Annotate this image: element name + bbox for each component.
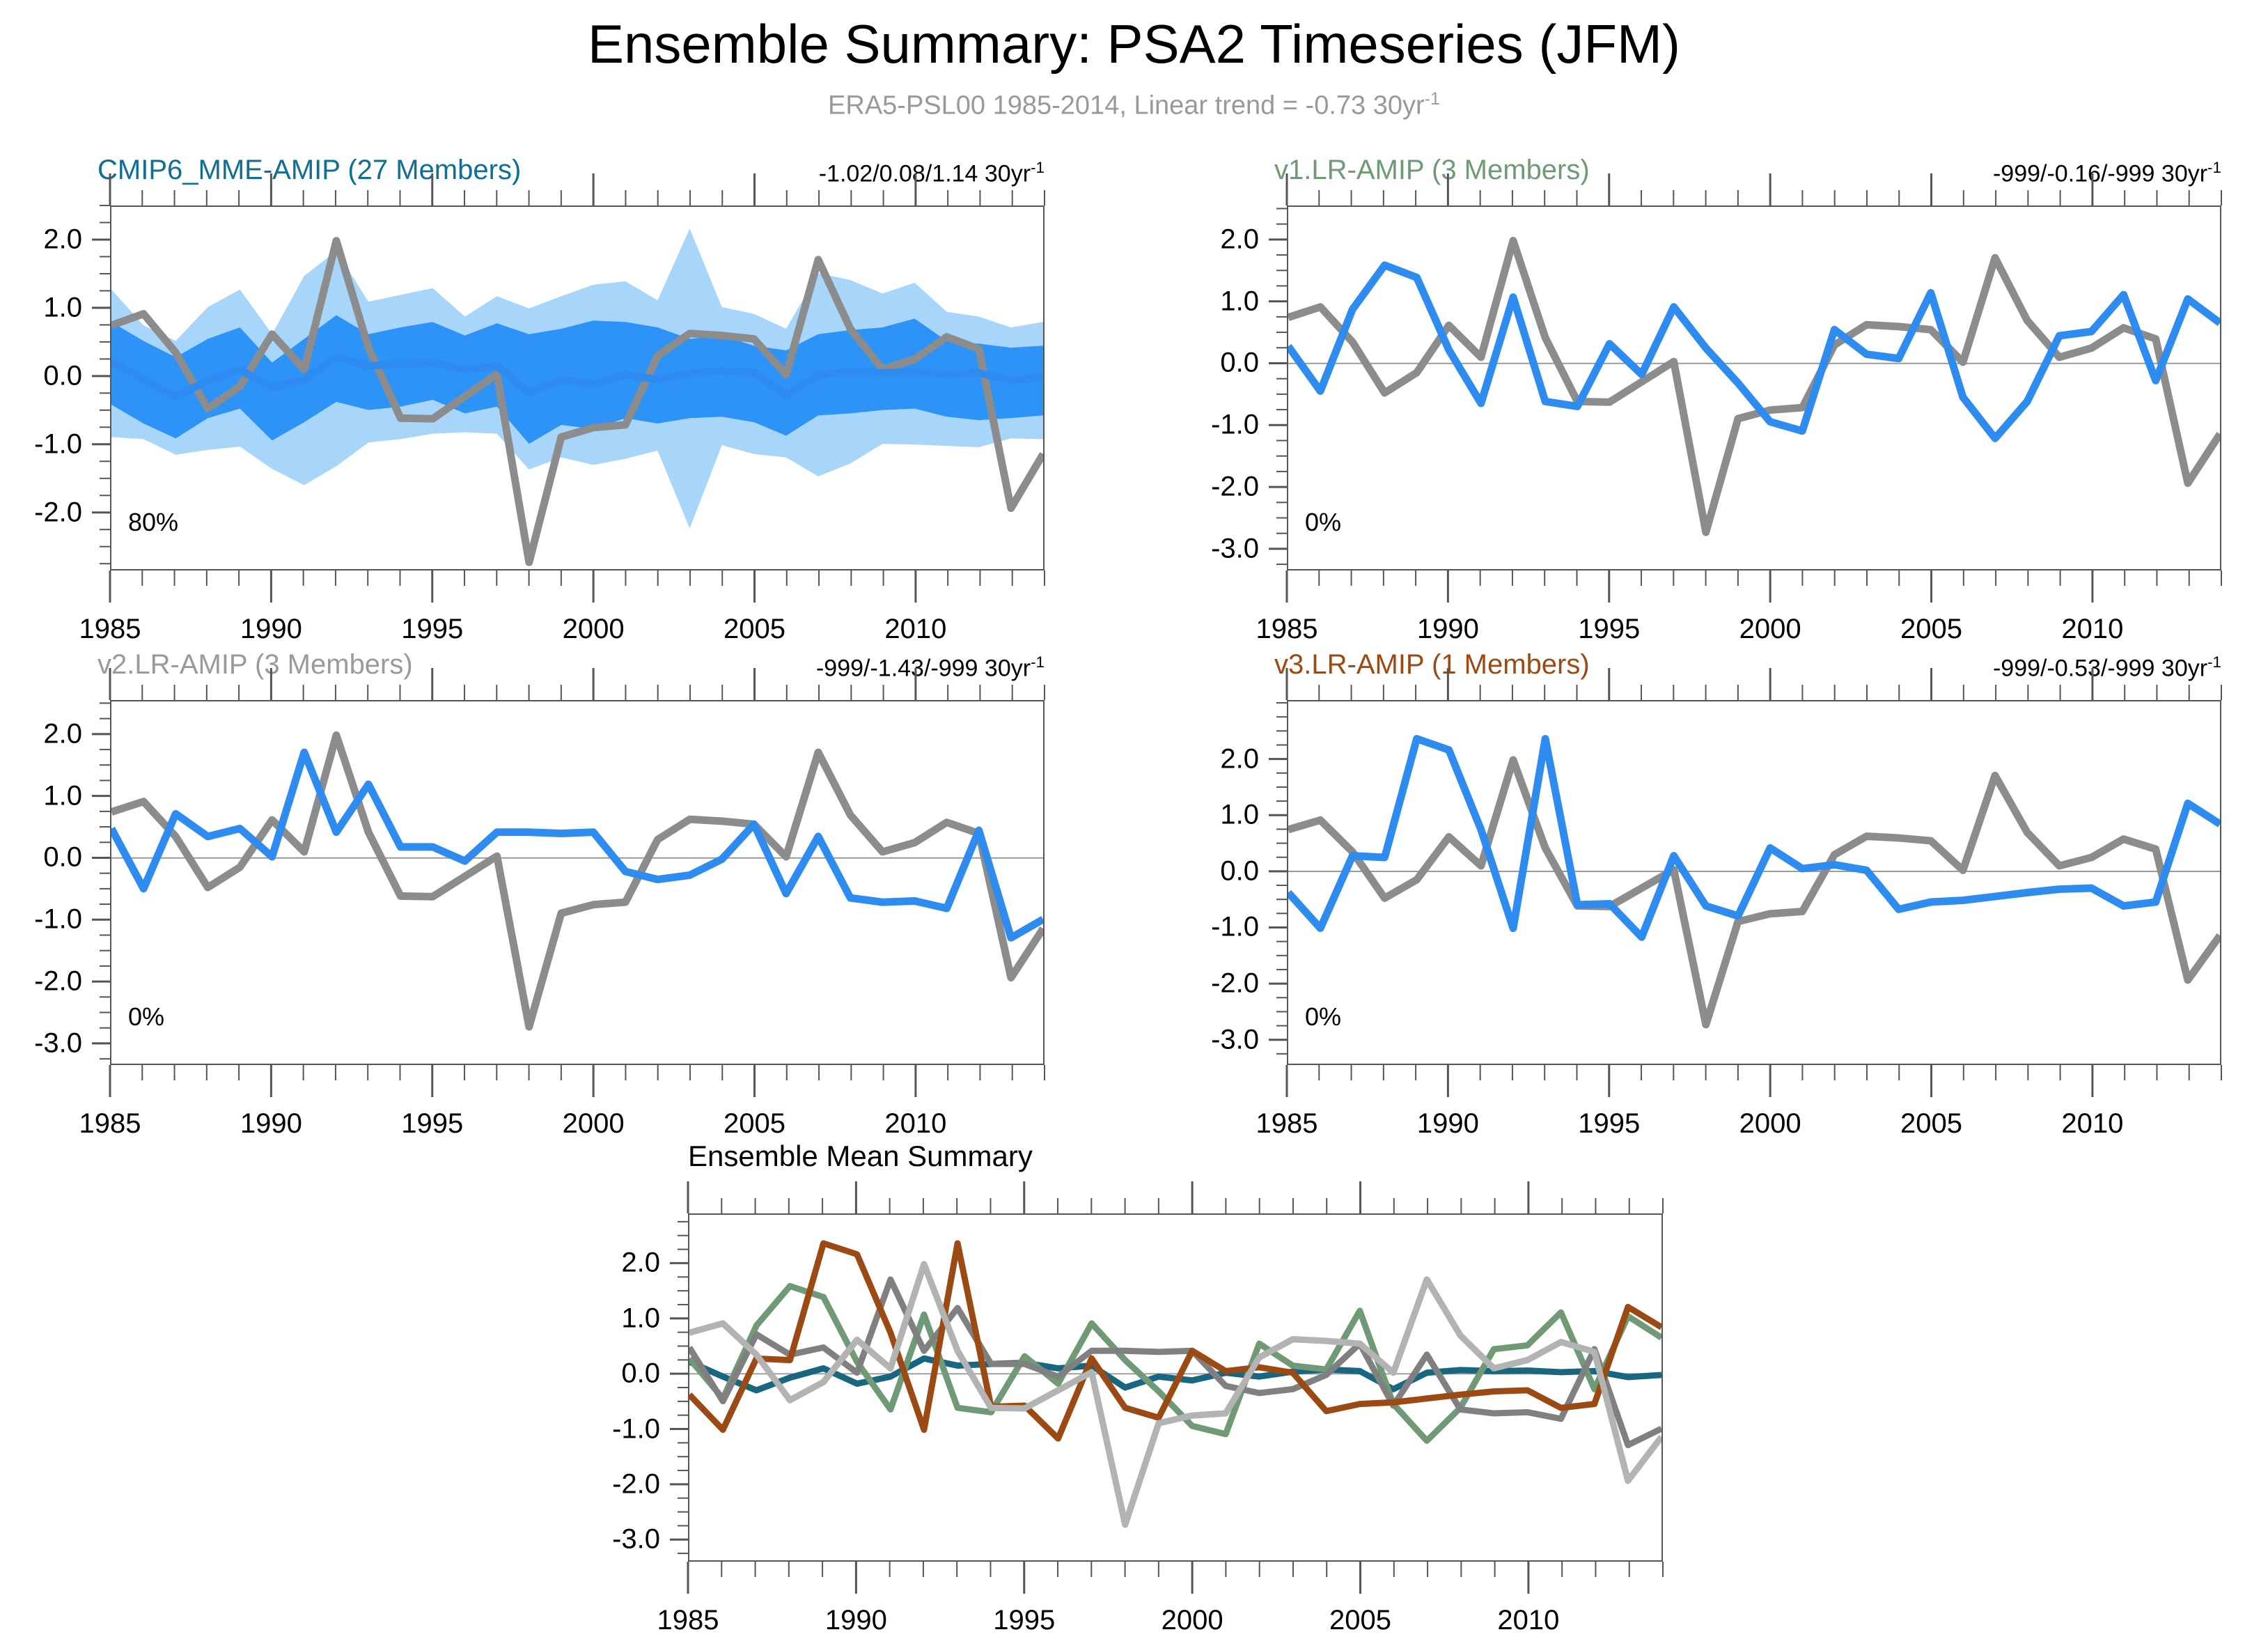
panel-title-ensemble-mean-summary: Ensemble Mean Summary (688, 1140, 1663, 1173)
plot-area-ensemble-mean-summary (688, 1213, 1663, 1562)
y-tick-label: 1.0 (0, 780, 82, 811)
x-tick-label: 2000 (1739, 614, 1801, 645)
x-tick-label: 1990 (825, 1605, 887, 1636)
percent-label-v1-lr-amip: 0% (1305, 508, 1341, 537)
panel-stat-v1-lr-amip: -999/-0.16/-999 30yr-1 (1734, 159, 2221, 187)
x-tick-label: 1990 (240, 614, 302, 645)
panel-title-v1-lr-amip: v1.LR-AMIP (3 Members) (1274, 155, 1590, 186)
x-tick-label: 2010 (2061, 614, 2123, 645)
x-tick-label: 2010 (1497, 1605, 1559, 1636)
y-tick-label: -3.0 (556, 1524, 660, 1555)
y-tick-label: -2.0 (1155, 968, 1259, 1000)
y-tick-label: 0.0 (1155, 855, 1259, 887)
x-tick-label: 1985 (1256, 1108, 1318, 1140)
plot-area-cmip6-mme-amip (110, 205, 1045, 570)
y-tick-label: 0.0 (0, 360, 82, 391)
x-tick-label: 1985 (79, 1108, 141, 1140)
y-tick-label: 2.0 (0, 224, 82, 255)
y-tick-label: 0.0 (1155, 348, 1259, 379)
figure-subtitle-exponent: -1 (1425, 89, 1440, 109)
x-tick-label: 1995 (1578, 614, 1640, 645)
x-tick-label: 2000 (563, 614, 625, 645)
x-tick-label: 1985 (79, 614, 141, 645)
figure-title: Ensemble Summary: PSA2 Timeseries (JFM) (0, 13, 2268, 76)
plot-svg-v3-lr-amip (1288, 701, 2220, 1064)
y-tick-label: 2.0 (1155, 224, 1259, 255)
panel-title-v3-lr-amip: v3.LR-AMIP (1 Members) (1274, 649, 1590, 681)
plot-svg-ensemble-mean-summary (689, 1215, 1661, 1560)
y-tick-label: -3.0 (1155, 1024, 1259, 1055)
y-tick-label: -2.0 (1155, 472, 1259, 503)
figure-subtitle-text: ERA5-PSL00 1985-2014, Linear trend = -0.… (828, 91, 1425, 121)
y-tick-label: 1.0 (1155, 286, 1259, 317)
plot-svg-cmip6-mme-amip (111, 207, 1043, 569)
x-tick-label: 2000 (1739, 1108, 1801, 1140)
y-tick-label: 1.0 (1155, 800, 1259, 831)
x-tick-label: 2005 (724, 614, 785, 645)
panel-stat-v3-lr-amip: -999/-0.53/-999 30yr-1 (1734, 653, 2221, 682)
y-tick-label: -3.0 (0, 1027, 82, 1059)
x-tick-label: 2005 (1900, 614, 1962, 645)
y-tick-label: -2.0 (0, 497, 82, 528)
y-tick-label: 2.0 (556, 1248, 660, 1279)
y-tick-label: -1.0 (0, 904, 82, 935)
panel-stat-cmip6-mme-amip: -1.02/0.08/1.14 30yr-1 (557, 159, 1045, 187)
series-line (689, 1264, 1661, 1525)
percent-label-cmip6-mme-amip: 80% (128, 508, 178, 537)
x-tick-label: 2010 (884, 614, 946, 645)
percent-label-v2-lr-amip: 0% (128, 1002, 164, 1032)
y-tick-label: -2.0 (556, 1468, 660, 1500)
x-tick-label: 2000 (1162, 1605, 1223, 1636)
y-tick-label: 1.0 (556, 1303, 660, 1334)
plot-area-v2-lr-amip (110, 700, 1045, 1065)
panel-stat-exponent: -1 (1031, 159, 1045, 176)
panel-stat-v2-lr-amip: -999/-1.43/-999 30yr-1 (557, 653, 1045, 682)
y-tick-label: 2.0 (1155, 743, 1259, 775)
x-tick-label: 2005 (1329, 1605, 1391, 1636)
x-tick-label: 1995 (1578, 1108, 1640, 1140)
y-tick-label: 1.0 (0, 292, 82, 323)
series-line (111, 735, 1043, 1027)
figure-subtitle: ERA5-PSL00 1985-2014, Linear trend = -0.… (0, 89, 2268, 121)
plot-svg-v2-lr-amip (111, 701, 1043, 1064)
y-tick-label: -3.0 (1155, 533, 1259, 564)
series-line (1288, 739, 2220, 938)
x-tick-label: 1985 (657, 1605, 719, 1636)
x-tick-label: 1995 (401, 1108, 463, 1140)
panel-stat-value: -999/-0.16/-999 30yr (1993, 160, 2207, 187)
x-tick-label: 2010 (2061, 1108, 2123, 1140)
plot-svg-v1-lr-amip (1288, 207, 2220, 569)
x-tick-label: 1990 (240, 1108, 302, 1140)
y-tick-label: 0.0 (556, 1358, 660, 1390)
y-tick-label: -1.0 (1155, 912, 1259, 943)
x-tick-label: 1985 (1256, 614, 1318, 645)
panel-stat-exponent: -1 (2207, 653, 2221, 671)
x-tick-label: 1990 (1417, 614, 1479, 645)
y-tick-label: 0.0 (0, 842, 82, 873)
panel-title-cmip6-mme-amip: CMIP6_MME-AMIP (27 Members) (97, 155, 521, 186)
panel-stat-value: -1.02/0.08/1.14 30yr (819, 160, 1031, 187)
x-tick-label: 1995 (401, 614, 463, 645)
y-tick-label: -2.0 (0, 966, 82, 997)
series-line (689, 1264, 1661, 1525)
panel-stat-exponent: -1 (1031, 653, 1045, 671)
panel-title-v2-lr-amip: v2.LR-AMIP (3 Members) (97, 649, 413, 681)
plot-area-v3-lr-amip (1287, 700, 2221, 1065)
y-tick-label: 2.0 (0, 718, 82, 749)
x-tick-label: 1995 (993, 1605, 1055, 1636)
y-tick-label: -1.0 (0, 428, 82, 460)
percent-label-v3-lr-amip: 0% (1305, 1002, 1341, 1032)
panel-stat-value: -999/-0.53/-999 30yr (1993, 655, 2207, 681)
y-tick-label: -1.0 (1155, 410, 1259, 441)
figure-root: Ensemble Summary: PSA2 Timeseries (JFM) … (0, 0, 2268, 1639)
x-tick-label: 2000 (563, 1108, 625, 1140)
plot-area-v1-lr-amip (1287, 205, 2221, 570)
x-tick-label: 2005 (724, 1108, 785, 1140)
series-line (1288, 240, 2220, 532)
panel-stat-exponent: -1 (2207, 159, 2221, 176)
x-tick-label: 2005 (1900, 1108, 1962, 1140)
x-tick-label: 1990 (1417, 1108, 1479, 1140)
y-tick-label: -1.0 (556, 1413, 660, 1445)
panel-stat-value: -999/-1.43/-999 30yr (816, 655, 1031, 681)
x-tick-label: 2010 (884, 1108, 946, 1140)
